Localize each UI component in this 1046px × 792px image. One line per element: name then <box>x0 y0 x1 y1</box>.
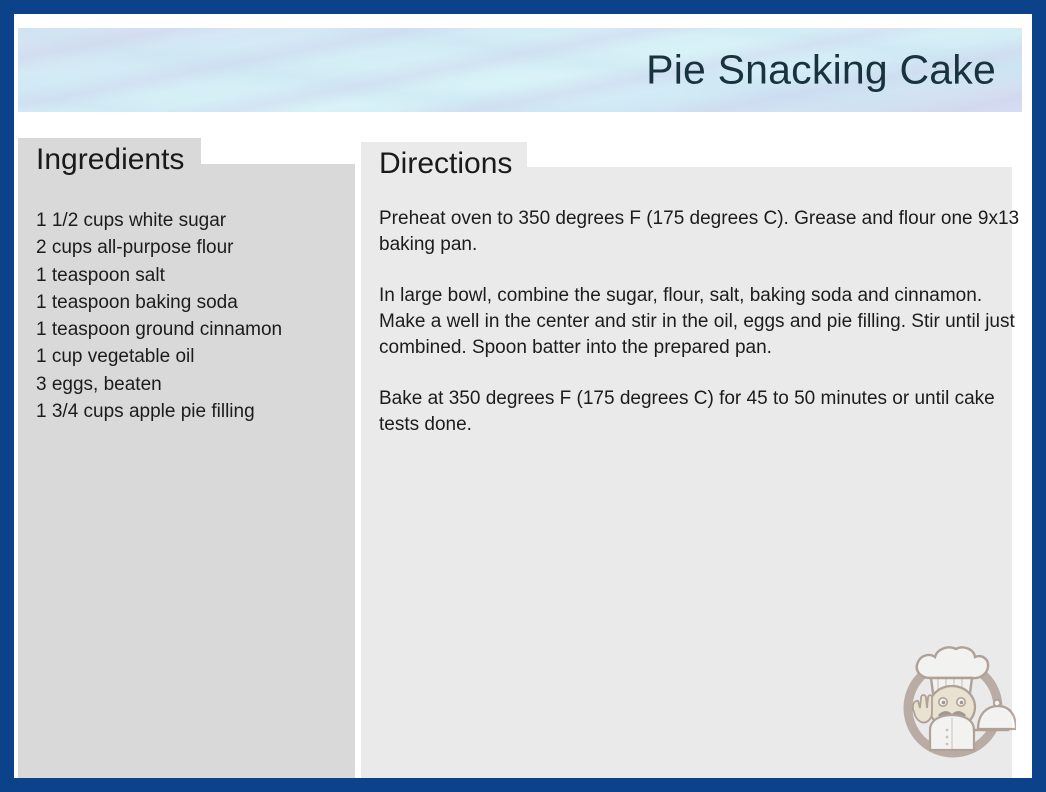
page-title: Pie Snacking Cake <box>646 47 996 94</box>
direction-step: In large bowl, combine the sugar, flour,… <box>379 283 1024 361</box>
chef-with-cloche-logo <box>890 638 1016 764</box>
ingredient-list: 1 1/2 cups white sugar 2 cups all-purpos… <box>36 207 346 425</box>
list-item: 1 3/4 cups apple pie filling <box>36 398 346 425</box>
raised-hand-icon <box>913 695 932 723</box>
list-item: 2 cups all-purpose flour <box>36 234 346 261</box>
directions-heading: Directions <box>379 147 512 181</box>
cloche-platter-icon <box>974 700 1016 730</box>
list-item: 1 teaspoon salt <box>36 262 346 289</box>
direction-step: Bake at 350 degrees F (175 degrees C) fo… <box>379 386 1024 438</box>
direction-step: Preheat oven to 350 degrees F (175 degre… <box>379 206 1024 258</box>
title-banner: Pie Snacking Cake <box>18 28 1022 112</box>
list-item: 1 cup vegetable oil <box>36 343 346 370</box>
list-item: 1 teaspoon ground cinnamon <box>36 316 346 343</box>
list-item: 1 1/2 cups white sugar <box>36 207 346 234</box>
directions-body: Preheat oven to 350 degrees F (175 degre… <box>379 206 1024 438</box>
recipe-card: Pie Snacking Cake Ingredients 1 1/2 cups… <box>0 0 1046 792</box>
list-item: 1 teaspoon baking soda <box>36 289 346 316</box>
ingredients-heading: Ingredients <box>36 143 184 177</box>
list-item: 3 eggs, beaten <box>36 371 346 398</box>
